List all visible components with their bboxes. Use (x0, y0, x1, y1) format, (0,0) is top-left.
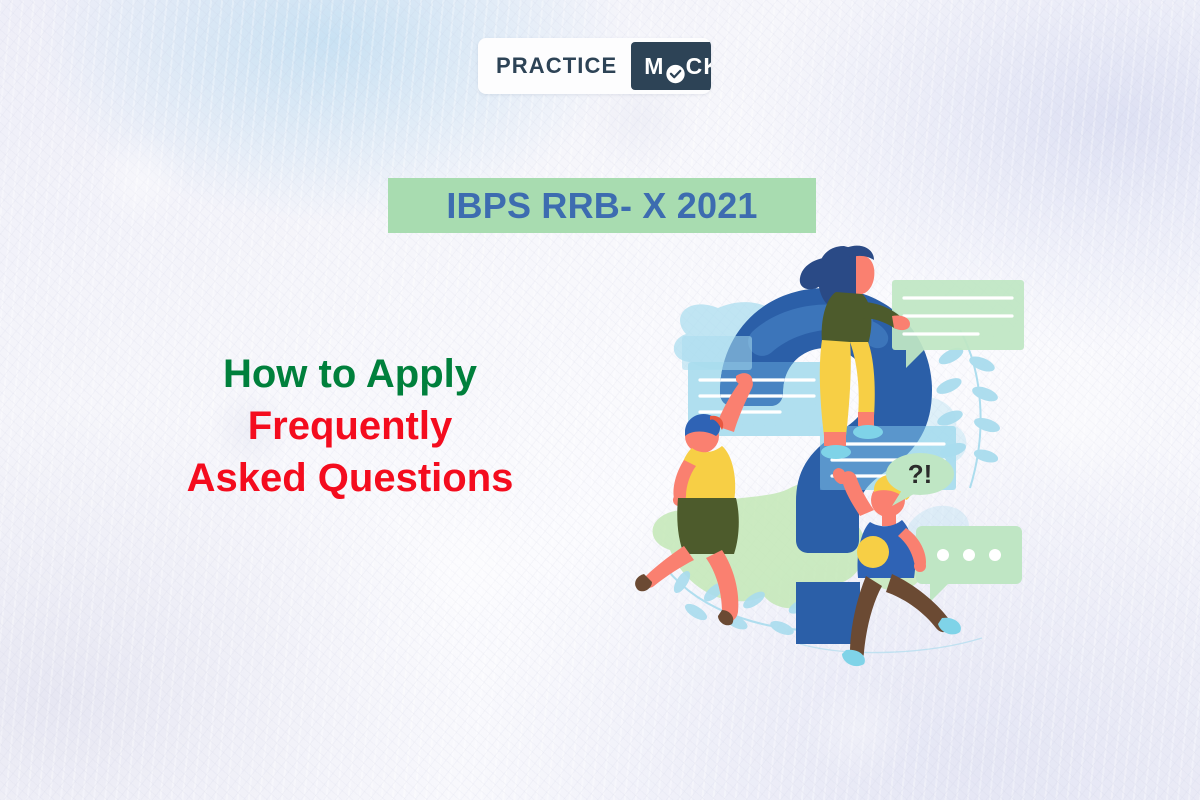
question-mark-dot (796, 582, 860, 644)
logo-mock-text: MCK (644, 55, 711, 78)
headline-line-1: How to Apply (60, 348, 640, 400)
headline-block: How to Apply Frequently Asked Questions (60, 348, 640, 504)
chat-bubble-small-blue (682, 336, 752, 370)
logo-practice-text: PRACTICE (478, 55, 631, 77)
speech-bubble-exclaim-text: ?! (908, 459, 933, 489)
exam-title-text: IBPS RRB- X 2021 (446, 188, 757, 224)
logo-mock-ck: CK (686, 53, 711, 79)
practicemock-logo[interactable]: PRACTICE MCK (478, 38, 711, 94)
question-mark-illustration: ?! (630, 240, 1030, 680)
check-circle-icon (665, 63, 686, 84)
chat-bubble-dots (916, 526, 1022, 602)
poster-canvas: PRACTICE MCK IBPS RRB- X 2021 How to App… (0, 0, 1200, 800)
logo-mock-badge: MCK (631, 42, 711, 90)
headline-line-2: Frequently (60, 400, 640, 452)
headline-line-3: Asked Questions (60, 452, 640, 504)
logo-mock-m: M (644, 53, 664, 79)
exam-title-banner: IBPS RRB- X 2021 (388, 178, 816, 233)
